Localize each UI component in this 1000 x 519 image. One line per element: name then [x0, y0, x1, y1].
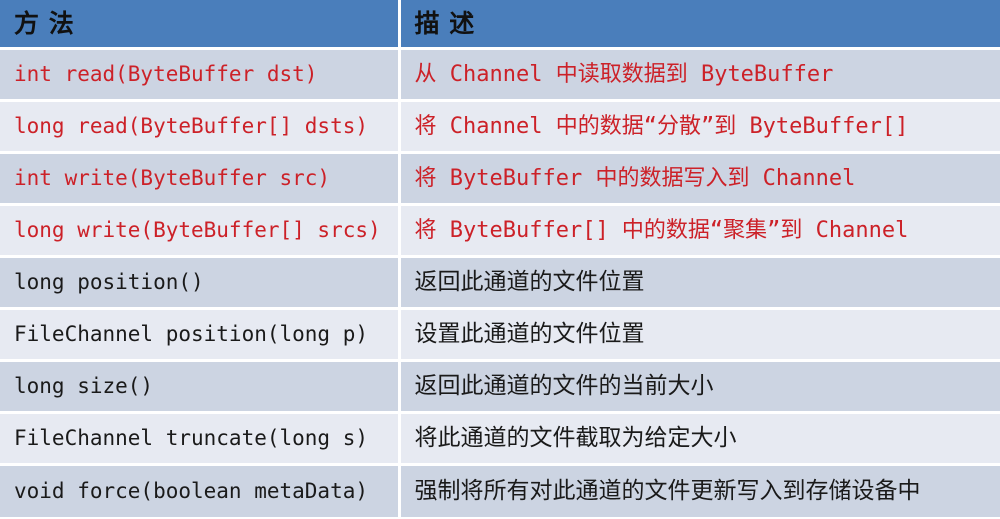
column-header-method-label: 方 法 [14, 11, 74, 36]
cell-method-signature: long position() [0, 257, 399, 309]
filechannel-method-table: 方 法 描 述 int read(ByteBuffer dst)从 Channe… [0, 0, 1000, 517]
method-signature-text: int write(ByteBuffer src) [14, 167, 330, 190]
table-row: int read(ByteBuffer dst)从 Channel 中读取数据到… [0, 49, 1000, 101]
description-text: 返回此通道的文件位置 [415, 270, 645, 295]
cell-description: 返回此通道的文件位置 [399, 257, 1000, 309]
cell-method-signature: long write(ByteBuffer[] srcs) [0, 205, 399, 257]
cell-method-signature: int read(ByteBuffer dst) [0, 49, 399, 101]
cell-method-signature: FileChannel position(long p) [0, 309, 399, 361]
description-text: 将 ByteBuffer[] 中的数据“聚集”到 Channel [415, 219, 909, 243]
method-signature-text: int read(ByteBuffer dst) [14, 63, 317, 86]
method-signature-text: long read(ByteBuffer[] dsts) [14, 115, 368, 138]
method-signature-text: FileChannel position(long p) [14, 323, 368, 346]
description-text: 设置此通道的文件位置 [415, 322, 645, 347]
cell-description: 从 Channel 中读取数据到 ByteBuffer [399, 49, 1000, 101]
cell-description: 返回此通道的文件的当前大小 [399, 361, 1000, 413]
column-header-description-label: 描 述 [415, 11, 475, 36]
table-header: 方 法 描 述 [0, 0, 1000, 49]
cell-description: 将此通道的文件截取为给定大小 [399, 413, 1000, 465]
table-row: int write(ByteBuffer src)将 ByteBuffer 中的… [0, 153, 1000, 205]
cell-method-signature: void force(boolean metaData) [0, 465, 399, 517]
description-text: 返回此通道的文件的当前大小 [415, 374, 714, 399]
description-text: 强制将所有对此通道的文件更新写入到存储设备中 [415, 479, 921, 504]
cell-description: 将 ByteBuffer 中的数据写入到 Channel [399, 153, 1000, 205]
method-signature-text: long size() [14, 375, 153, 398]
table-row: void force(boolean metaData)强制将所有对此通道的文件… [0, 465, 1000, 517]
column-header-method: 方 法 [0, 0, 399, 49]
method-signature-text: long position() [14, 271, 204, 294]
table-header-row: 方 法 描 述 [0, 0, 1000, 49]
cell-description: 强制将所有对此通道的文件更新写入到存储设备中 [399, 465, 1000, 517]
description-text: 将此通道的文件截取为给定大小 [415, 426, 737, 451]
cell-description: 将 Channel 中的数据“分散”到 ByteBuffer[] [399, 101, 1000, 153]
cell-method-signature: long size() [0, 361, 399, 413]
table-row: FileChannel position(long p)设置此通道的文件位置 [0, 309, 1000, 361]
description-text: 从 Channel 中读取数据到 ByteBuffer [415, 63, 834, 87]
cell-description: 将 ByteBuffer[] 中的数据“聚集”到 Channel [399, 205, 1000, 257]
column-header-description: 描 述 [399, 0, 1000, 49]
method-signature-text: void force(boolean metaData) [14, 480, 368, 503]
method-signature-text: long write(ByteBuffer[] srcs) [14, 219, 381, 242]
table-row: long write(ByteBuffer[] srcs)将 ByteBuffe… [0, 205, 1000, 257]
table-row: FileChannel truncate(long s)将此通道的文件截取为给定… [0, 413, 1000, 465]
table-row: long read(ByteBuffer[] dsts)将 Channel 中的… [0, 101, 1000, 153]
description-text: 将 Channel 中的数据“分散”到 ByteBuffer[] [415, 115, 909, 139]
cell-description: 设置此通道的文件位置 [399, 309, 1000, 361]
table-row: long position()返回此通道的文件位置 [0, 257, 1000, 309]
table-body: int read(ByteBuffer dst)从 Channel 中读取数据到… [0, 49, 1000, 517]
method-table-container: 方 法 描 述 int read(ByteBuffer dst)从 Channe… [0, 0, 1000, 519]
cell-method-signature: FileChannel truncate(long s) [0, 413, 399, 465]
table-row: long size()返回此通道的文件的当前大小 [0, 361, 1000, 413]
description-text: 将 ByteBuffer 中的数据写入到 Channel [415, 167, 856, 191]
method-signature-text: FileChannel truncate(long s) [14, 427, 368, 450]
cell-method-signature: long read(ByteBuffer[] dsts) [0, 101, 399, 153]
cell-method-signature: int write(ByteBuffer src) [0, 153, 399, 205]
